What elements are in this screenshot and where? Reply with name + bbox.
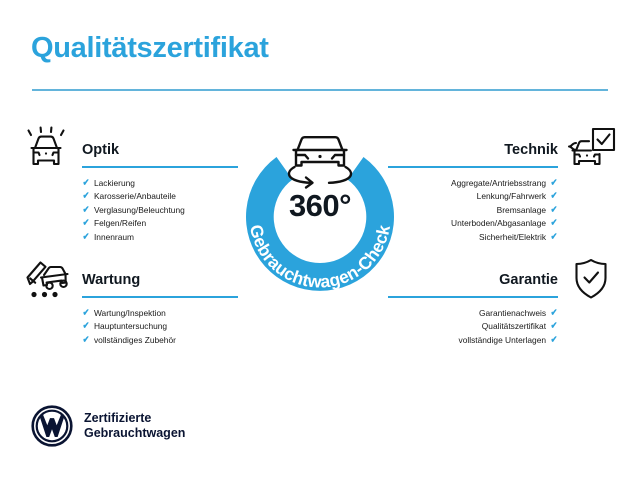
pen-car-service-icon (22, 256, 76, 306)
footer-line-2: Gebrauchtwagen (84, 426, 185, 441)
list-item-label: Karosserie/Anbauteile (94, 190, 176, 204)
check-icon: ✔ (83, 178, 90, 188)
list-item-label: Garantienachweis (479, 307, 546, 321)
check-icon: ✔ (551, 308, 558, 318)
list-item-label: Lenkung/Fahrwerk (477, 190, 546, 204)
list-item-label: Qualitätszertifikat (482, 320, 546, 334)
list-item-label: Aggregate/Antriebsstrang (451, 177, 546, 191)
list-item: ✔Wartung/Inspektion (82, 307, 254, 321)
check-icon: ✔ (551, 219, 558, 229)
list-item-label: Hauptuntersuchung (94, 320, 167, 334)
badge-center-label: 360° (229, 190, 411, 221)
list-item-label: Unterboden/Abgasanlage (451, 217, 546, 231)
check-icon: ✔ (551, 178, 558, 188)
list-item-label: Verglasung/Beleuchtung (94, 204, 185, 218)
title-divider (32, 89, 608, 91)
list-item-label: vollständiges Zubehör (94, 334, 176, 348)
list-item: Aggregate/Antriebsstrang✔ (386, 177, 558, 191)
section-wartung: Wartung ✔Wartung/Inspektion ✔Hauptunters… (22, 256, 254, 347)
check-icon: ✔ (83, 232, 90, 242)
footer-line-1: Zertifizierte (84, 411, 185, 426)
section-title: Technik (386, 126, 558, 158)
check-icon: ✔ (551, 232, 558, 242)
check-icon: ✔ (551, 335, 558, 345)
list-item-label: Wartung/Inspektion (94, 307, 166, 321)
section-list: Aggregate/Antriebsstrang✔ Lenkung/Fahrwe… (386, 168, 558, 245)
car-shine-icon (22, 126, 76, 176)
check-icon: ✔ (551, 192, 558, 202)
car-checkbox-icon (564, 126, 618, 176)
check-icon: ✔ (83, 192, 90, 202)
list-item: Lenkung/Fahrwerk✔ (386, 190, 558, 204)
vw-footer-lockup: Zertifizierte Gebrauchtwagen (31, 405, 185, 447)
check-icon: ✔ (83, 219, 90, 229)
section-title: Garantie (386, 256, 558, 288)
section-optik: Optik ✔Lackierung ✔Karosserie/Anbauteile… (22, 126, 254, 244)
shield-check-icon (564, 256, 618, 306)
car-front-rotate-icon (289, 137, 351, 187)
section-list: Garantienachweis✔ Qualitätszertifikat✔ v… (386, 298, 558, 348)
list-item-label: Bremsanlage (497, 204, 546, 218)
certificate-page: Qualitätszertifikat Optik (0, 0, 640, 480)
list-item: ✔Hauptuntersuchung (82, 320, 254, 334)
check-icon: ✔ (83, 308, 90, 318)
list-item-label: Innenraum (94, 231, 134, 245)
check-icon: ✔ (551, 322, 558, 332)
check-icon: ✔ (83, 335, 90, 345)
footer-text: Zertifizierte Gebrauchtwagen (84, 411, 185, 441)
check-icon: ✔ (551, 205, 558, 215)
list-item-label: vollständige Unterlagen (459, 334, 547, 348)
list-item-label: Lackierung (94, 177, 135, 191)
list-item: Garantienachweis✔ (386, 307, 558, 321)
list-item: Qualitätszertifikat✔ (386, 320, 558, 334)
list-item: Unterboden/Abgasanlage✔ (386, 217, 558, 231)
check-icon: ✔ (83, 322, 90, 332)
page-title: Qualitätszertifikat (31, 34, 269, 63)
check-icon: ✔ (83, 205, 90, 215)
list-item-label: Sicherheit/Elektrik (479, 231, 546, 245)
vw-logo (31, 405, 73, 447)
section-garantie: Garantie Garantienachweis✔ Qualitätszert… (386, 256, 618, 347)
360-check-badge: Gebrauchtwagen-Check 360° (229, 126, 411, 308)
list-item: Bremsanlage✔ (386, 204, 558, 218)
list-item: Sicherheit/Elektrik✔ (386, 231, 558, 245)
badge-ring (246, 157, 394, 291)
list-item: ✔vollständiges Zubehör (82, 334, 254, 348)
list-item: vollständige Unterlagen✔ (386, 334, 558, 348)
section-technik: Technik Aggregate/Antriebsstrang✔ Lenkun… (386, 126, 618, 244)
list-item-label: Felgen/Reifen (94, 217, 146, 231)
